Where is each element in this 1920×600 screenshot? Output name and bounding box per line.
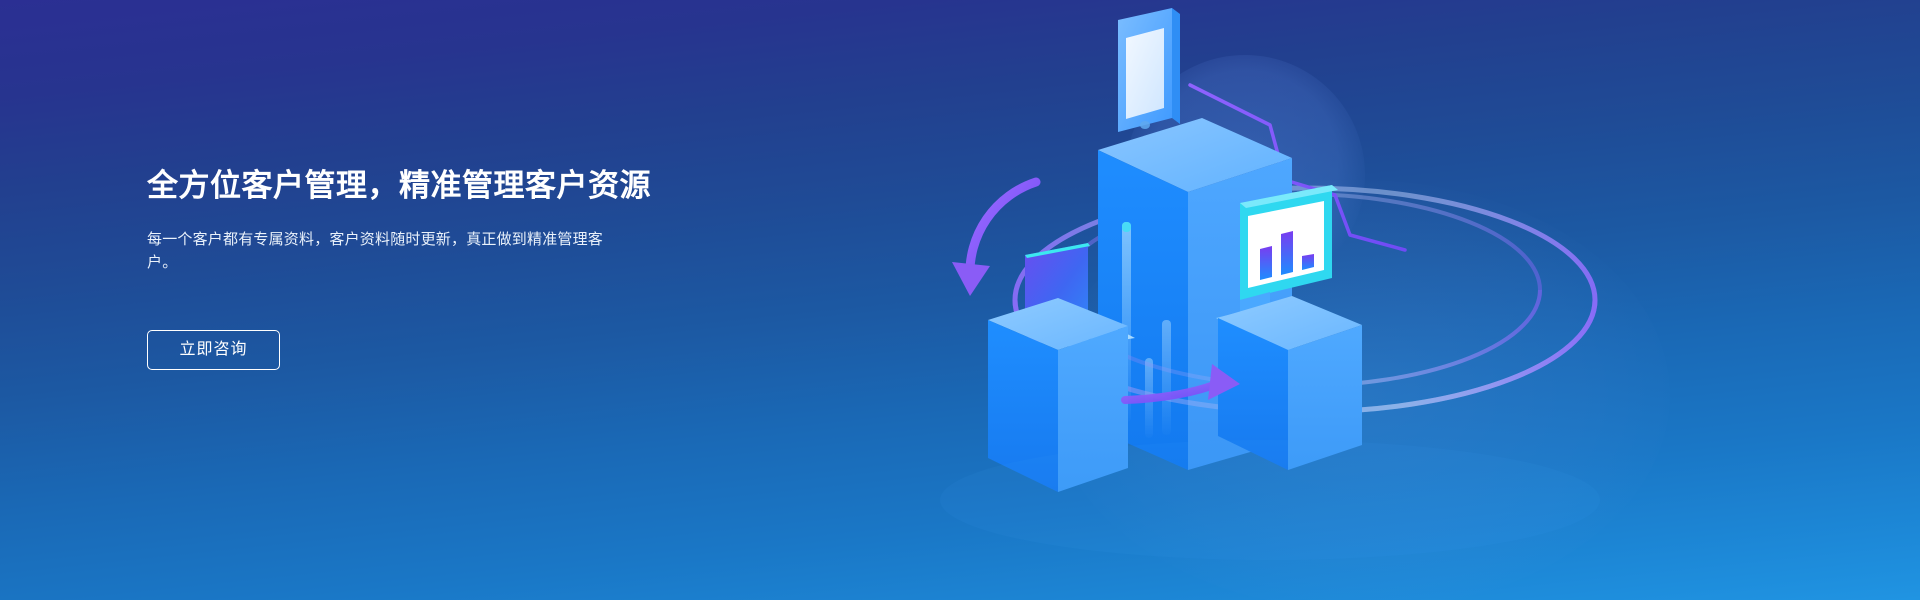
ground-sheen (940, 440, 1600, 560)
hero-banner: 全方位客户管理，精准管理客户资源 每一个客户都有专属资料，客户资料随时更新，真正… (0, 0, 1920, 600)
tablet-device (1118, 8, 1180, 132)
page-title: 全方位客户管理，精准管理客户资源 (147, 166, 767, 206)
page-subtitle: 每一个客户都有专属资料，客户资料随时更新，真正做到精准管理客户。 (147, 228, 627, 274)
tablet-home-button (1140, 121, 1150, 129)
consult-now-button[interactable]: 立即咨询 (147, 330, 280, 370)
copy-block: 全方位客户管理，精准管理客户资源 每一个客户都有专属资料，客户资料随时更新，真正… (147, 166, 767, 274)
hero-illustration (940, 0, 1920, 600)
arrow-left-icon (952, 182, 1036, 296)
